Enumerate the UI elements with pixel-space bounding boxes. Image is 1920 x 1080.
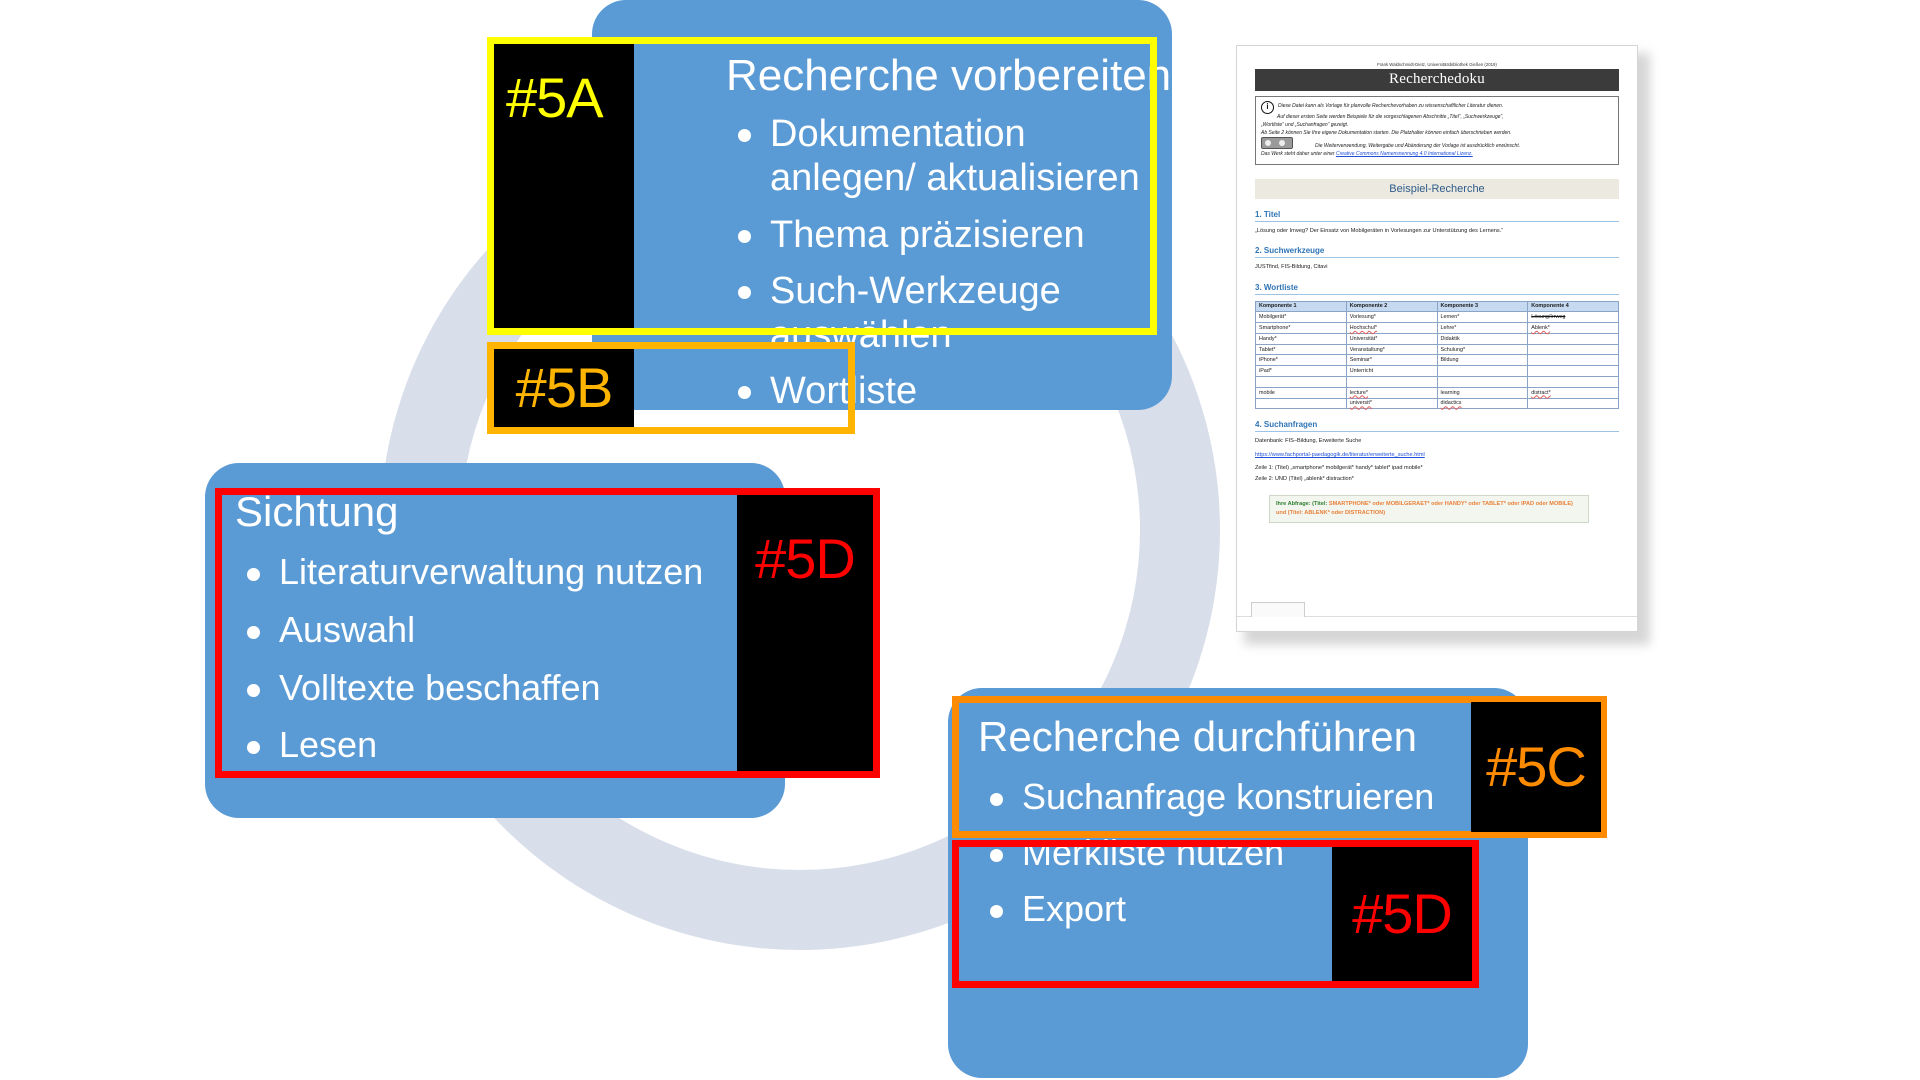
note-line-6: Das Werk steht daher unter einer [1261,151,1336,157]
table-cell: distract* [1528,387,1619,398]
document-credit: Frank Waldschmidt-Dietz, Universitätsbib… [1255,62,1619,67]
table-row: Smartphone* Hochschul* Lehre* Ablenk* [1256,323,1619,334]
table-cell: Mobilgerät* [1256,312,1347,323]
document-section-heading-2: 2. Suchwerkzeuge [1255,246,1619,258]
table-header-cell: Komponente 3 [1437,301,1528,312]
table-cell: Bildung [1437,355,1528,366]
table-cell [1528,366,1619,377]
table-cell [1437,366,1528,377]
table-cell: mobile [1256,387,1347,398]
note-line-4: Ab Seite 2 können Sie Ihre eigene Dokume… [1261,130,1511,136]
document-info-note: iDiese Datei kann als Vorlage für planvo… [1255,96,1619,165]
table-cell: universit* [1346,398,1437,409]
annotation-tag-5d-sichtung: #5D [737,495,873,771]
table-cell [1256,377,1347,388]
annotation-frame-5c: #5C [952,696,1607,838]
license-link[interactable]: Creative Commons Namensnennung 4.0 Inter… [1336,151,1473,157]
table-row: Tablet* Veranstaltung* Schulung* [1256,344,1619,355]
table-row: iPhone* Seminar* Bildung [1256,355,1619,366]
table-cell: Unterricht [1346,366,1437,377]
table-header-row: Komponente 1 Komponente 2 Komponente 3 K… [1256,301,1619,312]
table-cell: Lehre* [1437,323,1528,334]
document-search-row-2: Zeile 2: UND (Titel) „ablenk* distractio… [1255,475,1619,483]
document-section-heading-3: 3. Wortliste [1255,283,1619,295]
document-section-heading-4: 4. Suchanfragen [1255,420,1619,432]
table-header-cell: Komponente 2 [1346,301,1437,312]
annotation-tag-5c: #5C [1471,702,1601,832]
table-cell: Schulung* [1437,344,1528,355]
document-subheading: Beispiel-Recherche [1255,179,1619,199]
document-section-heading-1: 1. Titel [1255,210,1619,222]
creative-commons-icon [1261,137,1293,149]
annotation-frame-5d-sichtung: #5D [215,488,880,778]
annotation-tag-5d-durchfuehren: #5D [1332,847,1472,981]
table-row: universit* didactics [1256,398,1619,409]
document-page: Frank Waldschmidt-Dietz, Universitätsbib… [1236,45,1638,632]
note-line-3: „Wortliste“ und „Suchanfragen“ gezeigt. [1261,122,1348,128]
query-prefix: Ihre Abfrage: (Titel: [1276,501,1327,507]
annotation-frame-5b: #5B [487,342,855,434]
table-row: Mobilgerät* Vorlesung* Lernen* Lösung/Ir… [1256,312,1619,323]
table-cell: iPad* [1256,366,1347,377]
table-cell: didactics [1437,398,1528,409]
table-cell: learning [1437,387,1528,398]
table-cell: iPhone* [1256,355,1347,366]
table-cell: Vorlesung* [1346,312,1437,323]
document-preview[interactable]: Frank Waldschmidt-Dietz, Universitätsbib… [1236,45,1650,645]
document-query-box: Ihre Abfrage: (Titel: SMARTPHONE* oder M… [1269,495,1589,523]
table-row [1256,377,1619,388]
wortliste-table: Komponente 1 Komponente 2 Komponente 3 K… [1255,301,1619,410]
table-row: iPad* Unterricht [1256,366,1619,377]
table-row: mobile lecture* learning distract* [1256,387,1619,398]
table-header-cell: Komponente 4 [1528,301,1619,312]
annotation-frame-5a: #5A [487,37,1157,335]
table-cell [1528,344,1619,355]
document-section-body-2: JUSTfind, FIS-Bildung, Citavi [1255,263,1619,271]
table-cell: lecture* [1346,387,1437,398]
table-cell [1437,377,1528,388]
table-header-cell: Komponente 1 [1256,301,1347,312]
table-cell: Tablet* [1256,344,1347,355]
table-cell: Ablenk* [1528,323,1619,334]
table-cell: Smartphone* [1256,323,1347,334]
table-cell [1256,398,1347,409]
search-url-link[interactable]: https://www.fachportal-paedagogik.de/lit… [1255,452,1425,458]
table-row: Handy* Universität* Didaktik [1256,333,1619,344]
annotation-tag-5a: #5A [494,44,634,328]
document-page-tab [1251,602,1305,617]
annotation-frame-5d-durchfuehren: #5D [952,840,1479,988]
info-icon: i [1261,101,1274,114]
table-cell: Didaktik [1437,333,1528,344]
table-cell: Lernen* [1437,312,1528,323]
table-cell: Seminar* [1346,355,1437,366]
annotation-tag-5b: #5B [494,349,634,427]
document-banner-title: Recherchedoku [1255,69,1619,91]
note-line-1: Diese Datei kann als Vorlage für planvol… [1278,103,1503,109]
table-cell: Veranstaltung* [1346,344,1437,355]
document-search-row-1: Zeile 1: (Titel) „smartphone* mobilgerät… [1255,464,1619,472]
table-cell: Handy* [1256,333,1347,344]
table-cell [1528,398,1619,409]
document-section-body-1: „Lösung oder Irrweg? Der Einsatz von Mob… [1255,227,1619,235]
note-line-2: Auf dieser ersten Seite werden Beispiele… [1277,114,1504,120]
table-cell: Lösung/Irrweg [1528,312,1619,323]
note-line-5: Die Weiterverwendung, Weitergabe und Abä… [1315,143,1520,149]
table-cell: Universität* [1346,333,1437,344]
table-cell [1346,377,1437,388]
table-cell [1528,377,1619,388]
slide-canvas: Recherche vorbereiten Dokumentation anle… [0,0,1920,1080]
document-database-line: Datenbank: FIS–Bildung, Erweiterte Suche [1255,437,1619,445]
table-cell: Hochschul* [1346,323,1437,334]
table-cell [1528,355,1619,366]
table-cell [1528,333,1619,344]
